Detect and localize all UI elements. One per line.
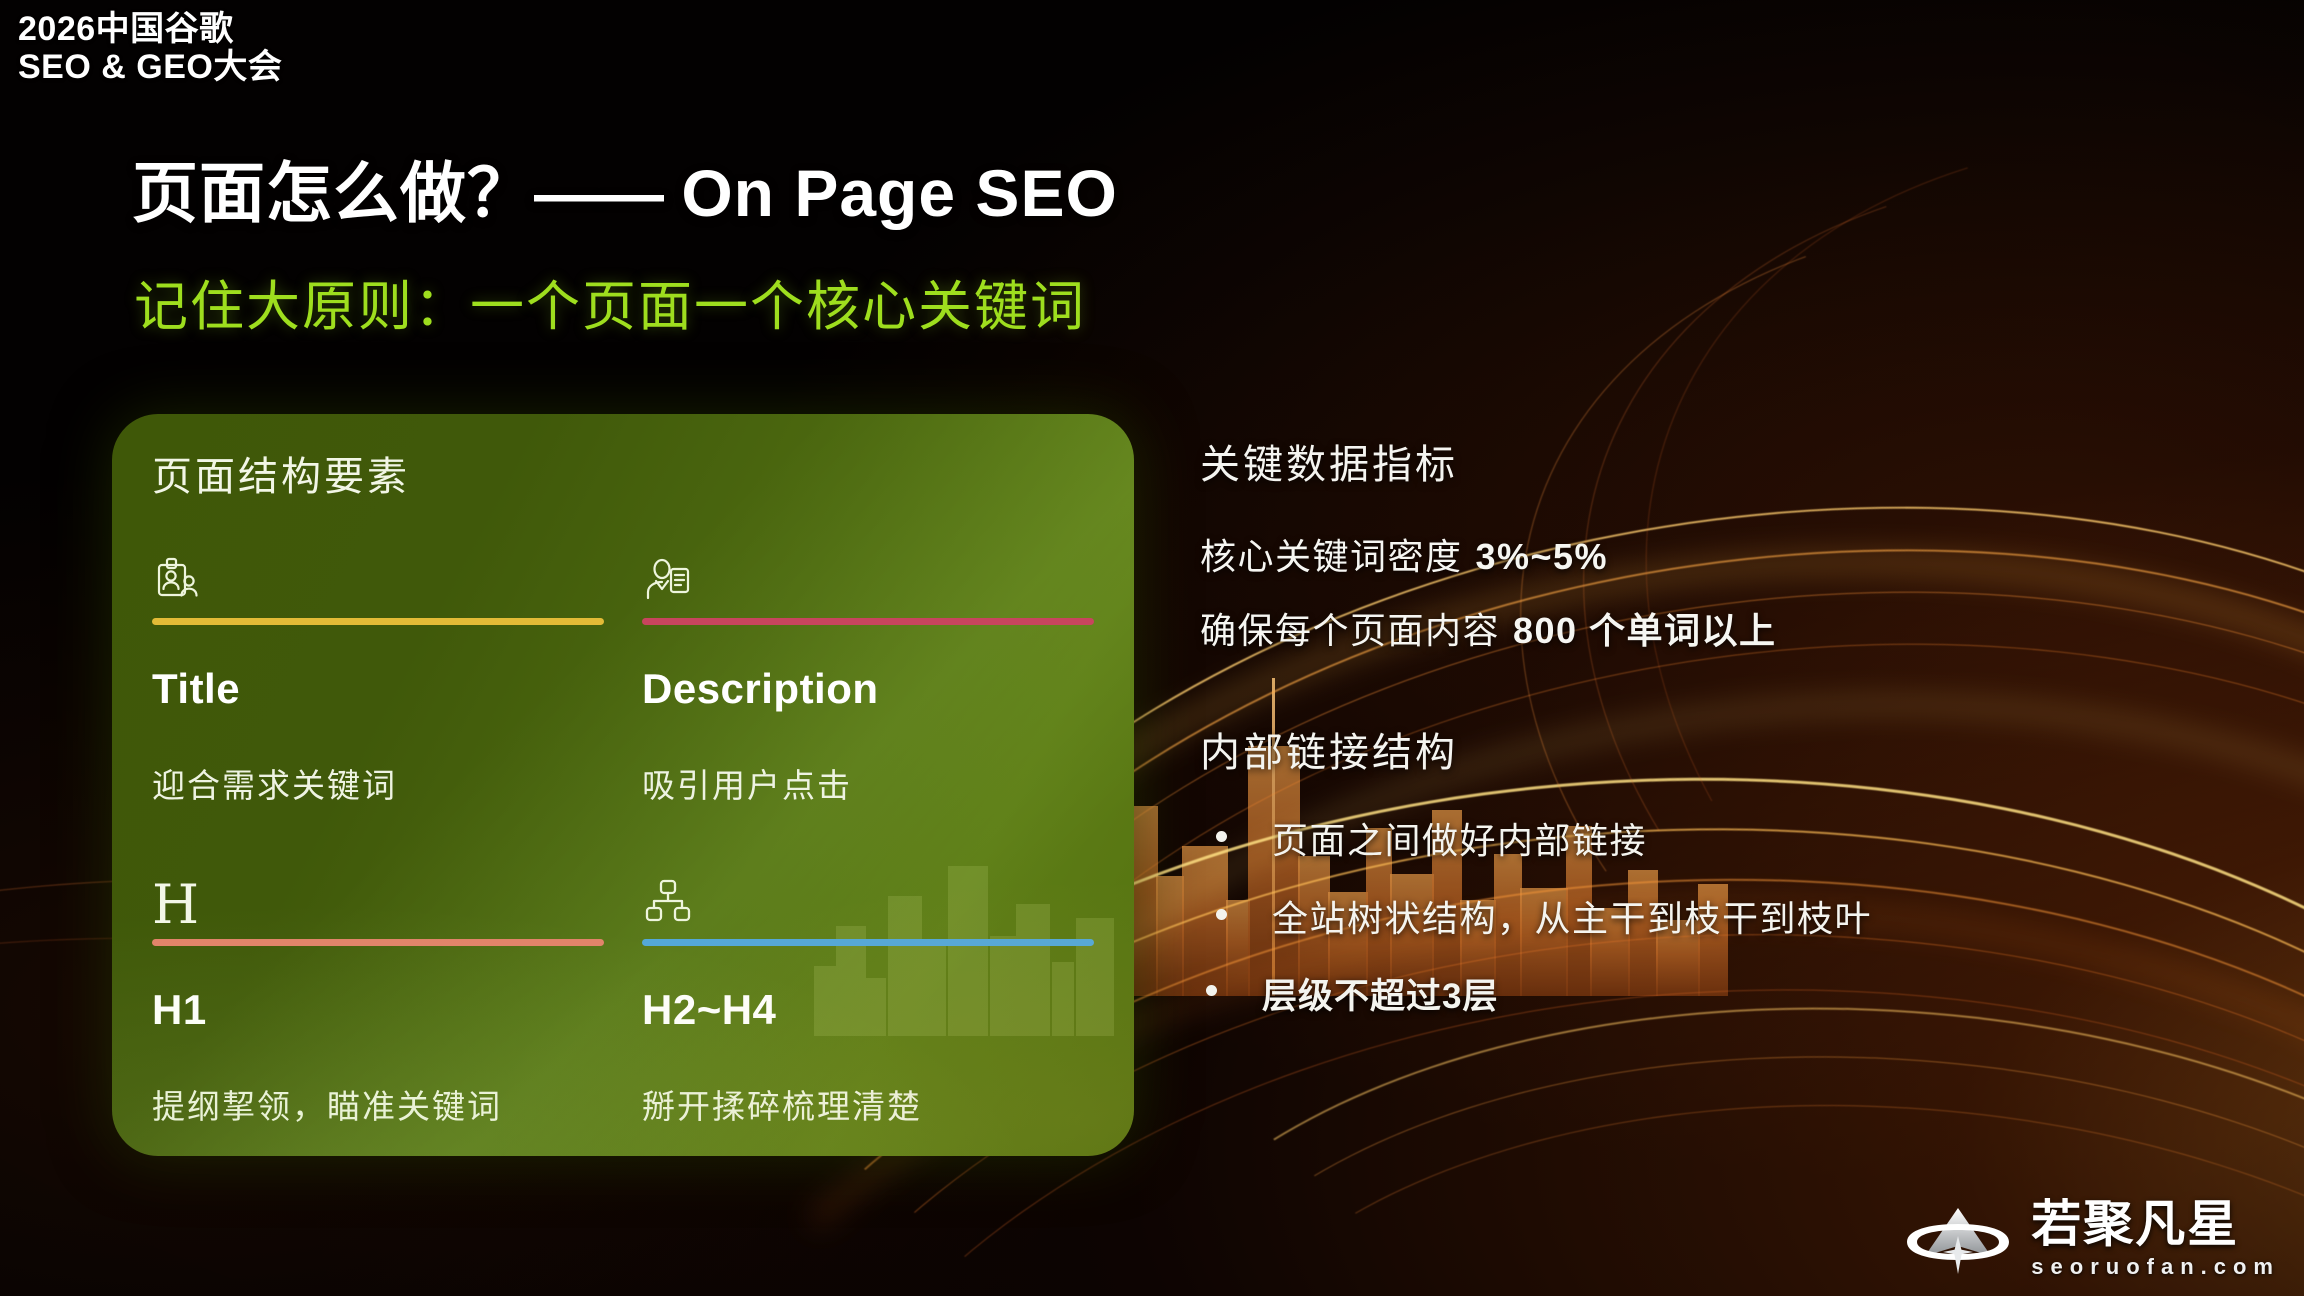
list-item-text: 全站树状结构，从主干到枝干到枝叶 <box>1272 899 1872 940</box>
structure-item-h2h4[interactable]: H2~H4 掰开揉碎梳理清楚 <box>642 871 1094 1128</box>
brand-logo: 若聚凡星 seoruofan.com <box>1899 1199 2280 1278</box>
page-title-dash: —— <box>534 156 662 230</box>
person-document-icon <box>642 550 1094 606</box>
metric-label: 确保每个页面内容 <box>1200 611 1513 652</box>
structure-item-rule <box>152 618 604 625</box>
list-item: 页面之间做好内部链接 <box>1200 812 2210 864</box>
arrow-star-logo-icon <box>1899 1202 2017 1276</box>
sitemap-hierarchy-icon <box>642 871 1094 927</box>
slide-canvas: 2026中国谷歌 SEO & GEO大会 页面怎么做？—— On Page SE… <box>0 0 2304 1296</box>
list-item-text: 页面之间做好内部链接 <box>1272 821 1647 862</box>
bullet-dot-icon <box>1216 909 1227 920</box>
structure-item-note: 提纲挈领，瞄准关键词 <box>152 1080 604 1128</box>
conference-logo-line1: 2026中国谷歌 <box>18 10 282 48</box>
structure-item-label: Description <box>642 665 1094 713</box>
structure-item-label: H2~H4 <box>642 986 1094 1034</box>
links-heading: 内部链接结构 <box>1200 720 2210 778</box>
bullet-dot-icon <box>1216 831 1227 842</box>
id-badge-person-icon <box>152 550 604 606</box>
metrics-heading: 关键数据指标 <box>1200 432 2210 490</box>
structure-item-title[interactable]: Title 迎合需求关键词 <box>152 550 604 807</box>
metric-value: 3%~5% <box>1475 536 1608 577</box>
structure-item-label: H1 <box>152 986 604 1034</box>
card-heading: 页面结构要素 <box>152 444 410 502</box>
list-item: 层级不超过3层 <box>1200 968 2210 1019</box>
conference-logo: 2026中国谷歌 SEO & GEO大会 <box>18 10 282 86</box>
page-structure-card: 页面结构要素 Title 迎合需求关键词 <box>112 414 1134 1156</box>
structure-item-rule <box>152 939 604 946</box>
internal-link-bullets: 页面之间做好内部链接 全站树状结构，从主干到枝干到枝叶 层级不超过3层 <box>1200 812 2210 1019</box>
brand-name: 若聚凡星 <box>2031 1199 2280 1249</box>
right-column: 关键数据指标 核心关键词密度 3%~5% 确保每个页面内容 800 个单词以上 … <box>1200 432 2210 1045</box>
page-title-cn: 页面怎么做？ <box>132 156 534 230</box>
metric-word-count: 确保每个页面内容 800 个单词以上 <box>1200 602 2210 654</box>
structure-item-h1[interactable]: H H1 提纲挈领，瞄准关键词 <box>152 871 604 1128</box>
structure-item-note: 迎合需求关键词 <box>152 759 604 807</box>
page-subtitle: 记住大原则：一个页面一个核心关键词 <box>134 262 1086 341</box>
list-item: 全站树状结构，从主干到枝干到枝叶 <box>1200 890 2210 942</box>
structure-item-label: Title <box>152 665 604 713</box>
structure-item-description[interactable]: Description 吸引用户点击 <box>642 550 1094 807</box>
structure-item-rule <box>642 939 1094 946</box>
letter-h-icon: H <box>152 871 604 927</box>
bullet-dot-icon <box>1206 985 1217 996</box>
structure-item-note: 吸引用户点击 <box>642 759 1094 807</box>
structure-grid: Title 迎合需求关键词 Description 吸引用户点击 <box>152 550 1094 1128</box>
structure-item-rule <box>642 618 1094 625</box>
page-title: 页面怎么做？—— On Page SEO <box>132 140 1118 236</box>
list-item-text: 层级不超过3层 <box>1262 977 1498 1016</box>
page-title-en: On Page SEO <box>681 156 1117 230</box>
structure-item-note: 掰开揉碎梳理清楚 <box>642 1080 1094 1128</box>
brand-domain: seoruofan.com <box>2031 1256 2280 1278</box>
metric-value: 800 个单词以上 <box>1513 610 1777 651</box>
metric-label: 核心关键词密度 <box>1200 537 1475 578</box>
conference-logo-line2: SEO & GEO大会 <box>18 48 282 86</box>
metric-keyword-density: 核心关键词密度 3%~5% <box>1200 528 2210 580</box>
